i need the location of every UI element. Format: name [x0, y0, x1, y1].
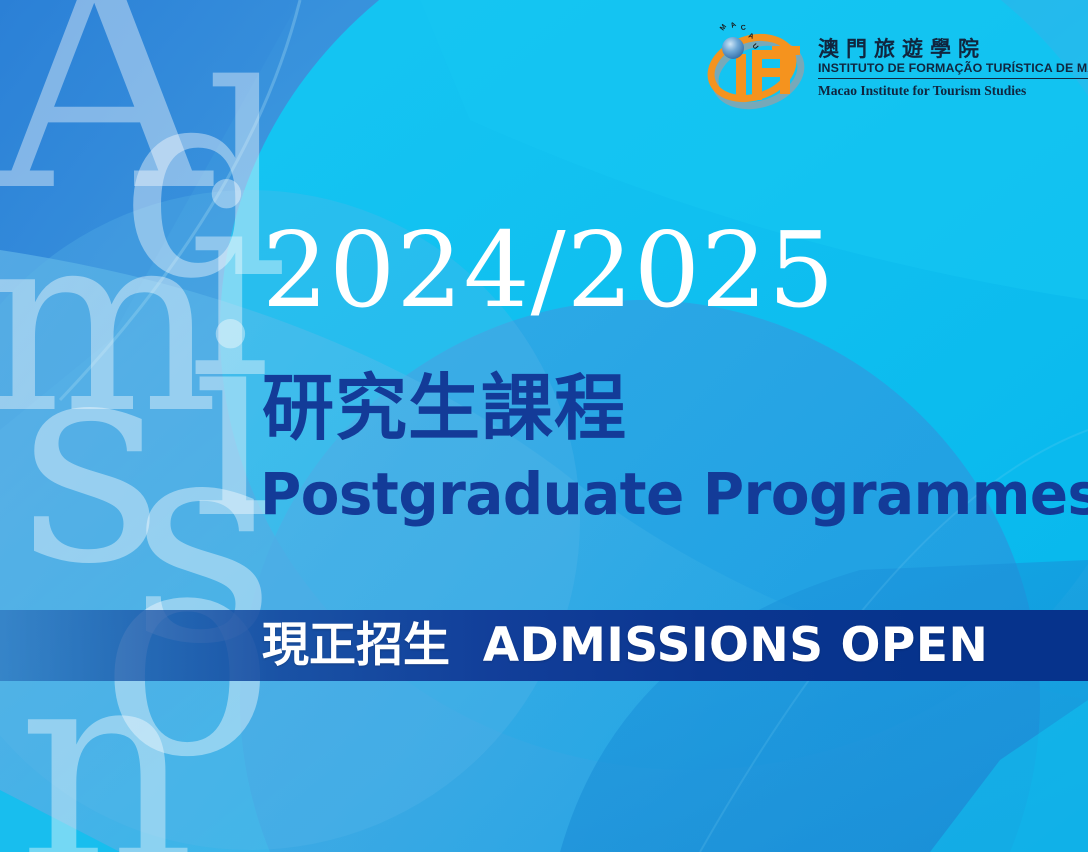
programme-title-chinese: 研究生課程	[262, 372, 627, 444]
academic-year-heading: 2024/2025	[262, 218, 835, 322]
ift-emblem-icon: M A C A U	[700, 22, 808, 114]
svg-text:A: A	[730, 22, 738, 30]
logo-name-portuguese: INSTITUTO DE FORMAÇÃO TURÍSTICA DE MACAU	[818, 61, 1088, 80]
logo-text-block: 澳門旅遊學院 INSTITUTO DE FORMAÇÃO TURÍSTICA D…	[818, 37, 1088, 100]
admissions-banner-text: 現正招生 ADMISSIONS OPEN	[262, 617, 988, 676]
svg-text:M: M	[719, 23, 728, 32]
logo-name-english: Macao Institute for Tourism Studies	[818, 83, 1088, 99]
admissions-label-chinese: 現正招生	[262, 618, 450, 673]
logo-name-chinese: 澳門旅遊學院	[818, 37, 1088, 61]
admissions-label-english: ADMISSIONS OPEN	[483, 618, 989, 673]
admissions-poster: A d m i s s i o n	[0, 0, 1088, 852]
programme-title-english: Postgraduate Programmes	[260, 465, 1088, 523]
svg-text:C: C	[740, 24, 746, 31]
ift-logo: M A C A U 澳門旅遊學院 INSTITUTO DE FORMAÇÃO T…	[700, 22, 1088, 114]
